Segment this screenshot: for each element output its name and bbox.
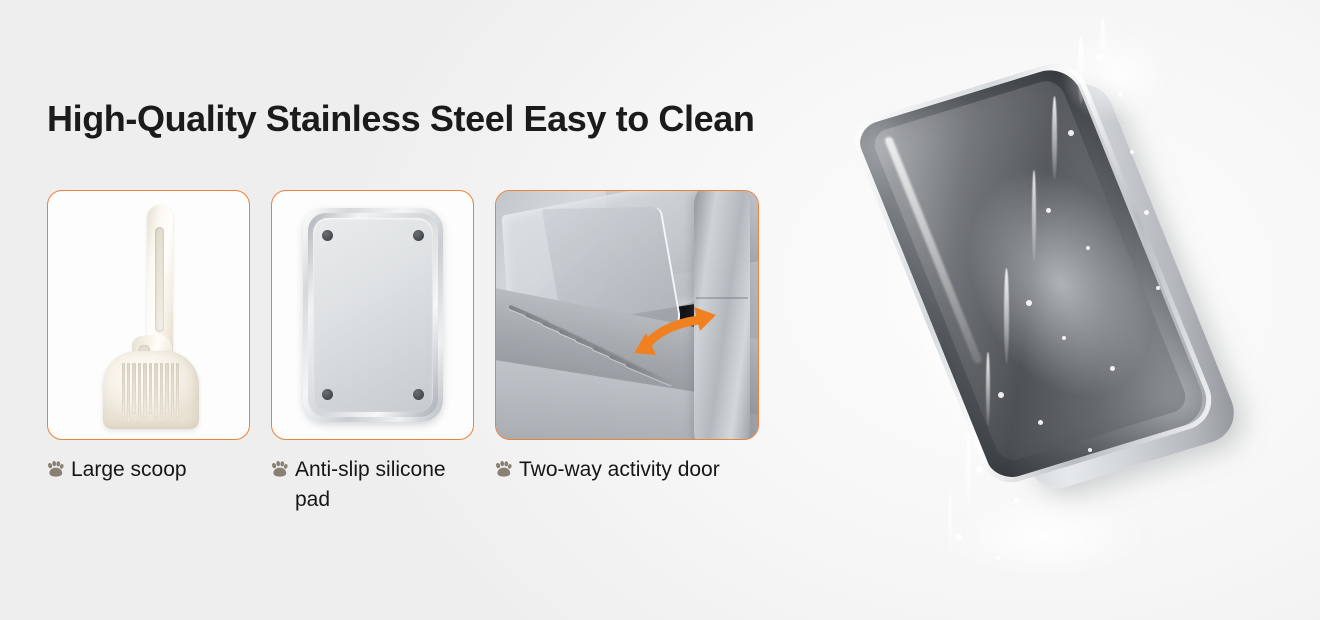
silicone-pad-image [303, 208, 443, 422]
feature-caption-text: Two-way activity door [519, 455, 720, 485]
feature-card-two-way-door[interactable] [495, 190, 759, 440]
pad-surface [313, 218, 433, 412]
promo-banner: High-Quality Stainless Steel Easy to Cle… [0, 0, 1320, 620]
feature-caption-two-way-door: Two-way activity door [495, 455, 759, 515]
two-way-door-image [496, 191, 758, 439]
paw-icon [271, 461, 288, 477]
scoop-handle-slot [155, 227, 164, 332]
feature-caption-large-scoop: Large scoop [47, 455, 250, 515]
hero-product-photo [800, 0, 1320, 620]
pad-foot-top-left [322, 230, 333, 241]
two-way-arrow-icon [632, 305, 718, 367]
feature-panel: High-Quality Stainless Steel Easy to Cle… [0, 0, 800, 620]
page-title: High-Quality Stainless Steel Easy to Cle… [47, 98, 754, 140]
feature-card-row [47, 190, 759, 440]
feature-caption-row: Large scoop Anti-slip silicone pad [47, 455, 759, 515]
feature-caption-silicone-pad: Anti-slip silicone pad [271, 455, 474, 515]
scoop-sift-slots [122, 363, 180, 423]
feature-card-silicone-pad[interactable] [271, 190, 474, 440]
scoop-blade [103, 351, 199, 429]
feature-card-large-scoop[interactable] [47, 190, 250, 440]
feature-caption-text: Anti-slip silicone pad [295, 455, 474, 515]
pad-foot-top-right [413, 230, 424, 241]
paw-icon [495, 461, 512, 477]
pad-foot-bottom-right [413, 389, 424, 400]
pad-foot-bottom-left [322, 389, 333, 400]
litter-scoop-image [89, 205, 209, 430]
paw-icon [47, 461, 64, 477]
feature-caption-text: Large scoop [71, 455, 187, 485]
